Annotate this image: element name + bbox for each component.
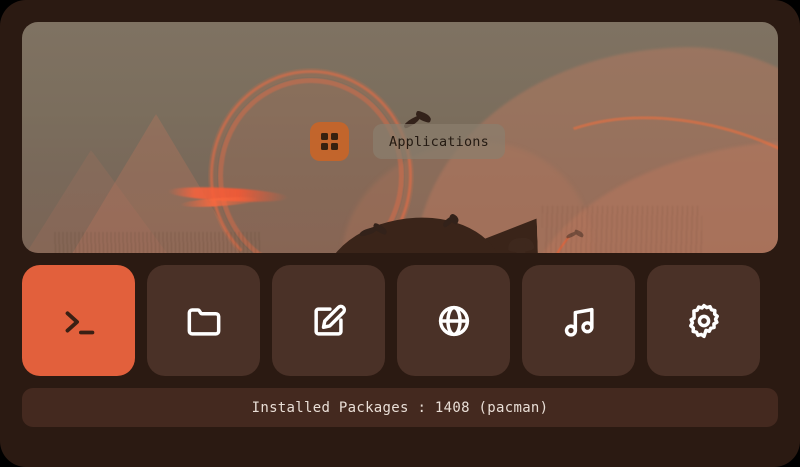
wallpaper-whale-tail: [515, 240, 526, 253]
gear-icon: [682, 299, 726, 343]
grid-icon: [321, 133, 338, 150]
terminal-icon: [56, 298, 102, 344]
wallpaper-mountain-left: [66, 114, 246, 253]
wallpaper-cloud-streak-2: [180, 195, 260, 209]
globe-icon: [432, 299, 476, 343]
wallpaper-hill-right-2: [522, 140, 778, 253]
desktop-launcher-window: Applications: [0, 0, 800, 467]
applications-tooltip: Applications: [373, 124, 505, 159]
wallpaper-grass-left: [52, 232, 262, 253]
wallpaper-sun-glow: [208, 68, 414, 253]
wallpaper-rim-arc-right: [462, 67, 778, 253]
wallpaper-cloud-streak: [168, 185, 289, 204]
dock-item-editor[interactable]: [272, 265, 385, 376]
dock-item-browser[interactable]: [397, 265, 510, 376]
wallpaper-grass-right: [542, 206, 702, 253]
dock: [22, 265, 778, 376]
wallpaper-foreground-slope: [337, 219, 539, 253]
dock-item-music[interactable]: [522, 265, 635, 376]
applications-launcher-button[interactable]: [310, 122, 349, 161]
dock-item-terminal[interactable]: [22, 265, 135, 376]
dock-item-settings[interactable]: [647, 265, 760, 376]
edit-square-icon: [307, 299, 351, 343]
wallpaper-mountain-left-2: [22, 150, 172, 253]
folder-icon: [182, 299, 226, 343]
wallpaper-panel: Applications: [22, 22, 778, 253]
dock-item-files[interactable]: [147, 265, 260, 376]
wallpaper-rim-arc-right-2: [524, 141, 778, 253]
wallpaper-foreground-rock: [320, 213, 504, 253]
music-note-icon: [557, 299, 601, 343]
wallpaper-whale-tail-fin: [508, 237, 535, 253]
status-bar: Installed Packages : 1408 (pacman): [22, 388, 778, 427]
